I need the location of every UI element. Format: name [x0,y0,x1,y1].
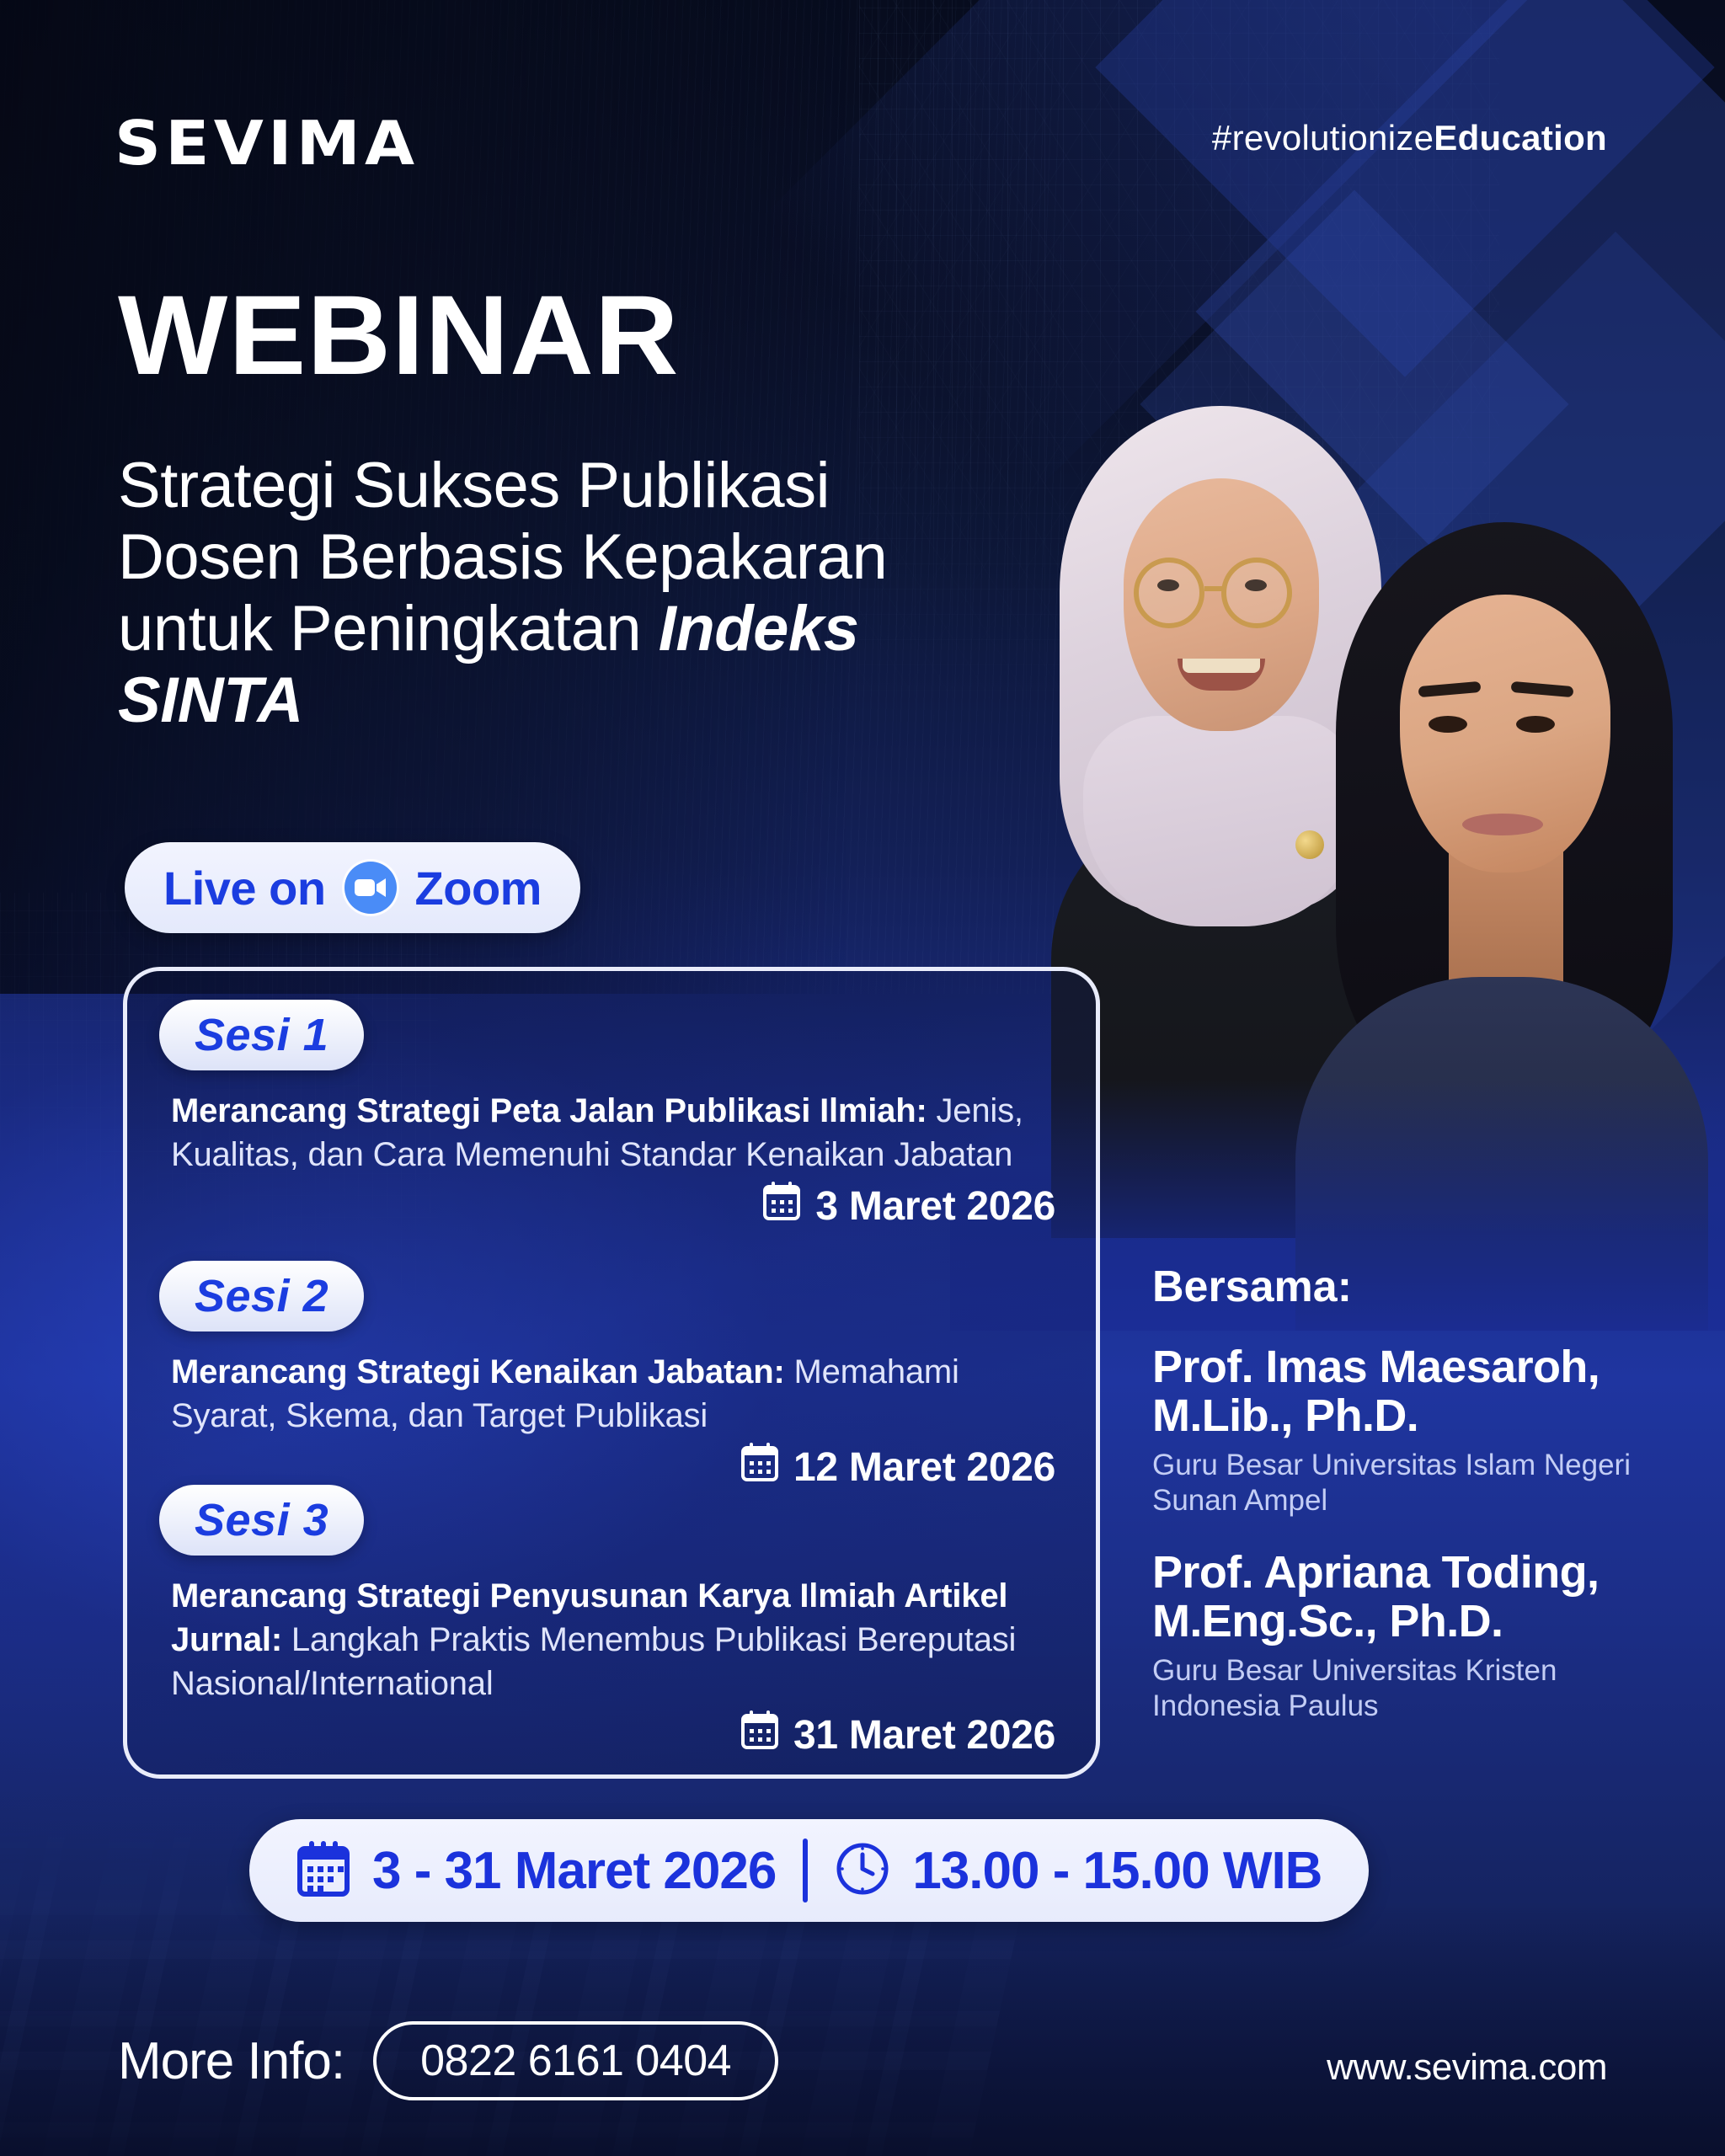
calendar-icon [763,1182,800,1230]
speaker-name-1: Prof. Imas Maesaroh, M.Lib., Ph.D. [1152,1342,1691,1441]
sessions-card: Sesi 1 Merancang Strategi Peta Jalan Pub… [123,967,1100,1779]
sevima-logo: SEVIMA [115,108,419,179]
campaign-hashtag: #revolutionizeEducation [1212,118,1607,158]
session-title-bold-1: Merancang Strategi Peta Jalan Publikasi … [171,1092,927,1129]
title-line-2: Dosen Berbasis Kepakaran [118,521,887,593]
session-item-2: Sesi 2 Merancang Strategi Kenaikan Jabat… [159,1261,1069,1492]
session-date-2: 12 Maret 2026 [793,1444,1055,1491]
session-date-row-3: 31 Maret 2026 [159,1710,1069,1759]
session-item-1: Sesi 1 Merancang Strategi Peta Jalan Pub… [159,1000,1069,1230]
schedule-date-range: 3 - 31 Maret 2026 [372,1841,776,1901]
hashtag-bold-part: Education [1434,118,1607,157]
session-description-2: Merancang Strategi Kenaikan Jabatan: Mem… [159,1350,1069,1438]
calendar-icon [296,1840,350,1902]
session-title-bold-2: Merancang Strategi Kenaikan Jabatan: [171,1353,785,1390]
hashtag-light-part: #revolutionize [1212,118,1434,157]
contact-phone-pill[interactable]: 0822 6161 0404 [373,2021,778,2100]
zoom-label: Zoom [415,861,542,915]
session-description-1: Merancang Strategi Peta Jalan Publikasi … [159,1089,1069,1177]
speaker-name-2: Prof. Apriana Toding, M.Eng.Sc., Ph.D. [1152,1548,1691,1646]
speaker-entry-2: Prof. Apriana Toding, M.Eng.Sc., Ph.D. G… [1152,1548,1691,1725]
title-line-1: Strategi Sukses Publikasi [118,450,830,521]
live-on-zoom-badge[interactable]: Live on Zoom [125,842,580,933]
speaker-entry-1: Prof. Imas Maesaroh, M.Lib., Ph.D. Guru … [1152,1342,1691,1519]
session-title-rest-3: Langkah Praktis Menembus Publikasi Berep… [171,1621,1016,1702]
title-line-4-italic: SINTA [118,664,303,736]
calendar-icon [741,1710,778,1759]
session-badge-1: Sesi 1 [159,1000,364,1070]
speaker-affiliation-1: Guru Besar Universitas Islam Negeri Suna… [1152,1448,1691,1519]
session-badge-2: Sesi 2 [159,1261,364,1331]
more-info-block: More Info: 0822 6161 0404 [118,2021,778,2100]
session-item-3: Sesi 3 Merancang Strategi Penyusunan Kar… [159,1485,1069,1759]
speakers-heading: Bersama: [1152,1262,1691,1312]
session-date-row-1: 3 Maret 2026 [159,1182,1069,1230]
session-badge-3: Sesi 3 [159,1485,364,1556]
schedule-bar: 3 - 31 Maret 2026 13.00 - 15.00 WIB [249,1819,1369,1922]
live-on-label: Live on [163,861,326,915]
session-description-3: Merancang Strategi Penyusunan Karya Ilmi… [159,1574,1069,1705]
webinar-poster: SEVIMA #revolutionizeEducation WEBINAR S… [0,0,1725,2156]
event-type-heading: WEBINAR [118,280,680,392]
page-title: Strategi Sukses Publikasi Dosen Berbasis… [118,450,1095,736]
title-line-3-italic: Indeks [659,593,859,664]
schedule-time-range: 13.00 - 15.00 WIB [912,1841,1322,1901]
website-url[interactable]: www.sevima.com [1327,2047,1607,2089]
zoom-video-camera-icon [344,862,397,914]
schedule-divider [803,1838,808,1903]
more-info-label: More Info: [118,2031,344,2091]
speaker-affiliation-2: Guru Besar Universitas Kristen Indonesia… [1152,1653,1691,1725]
clock-icon [835,1841,890,1901]
speakers-panel: Bersama: Prof. Imas Maesaroh, M.Lib., Ph… [1152,1262,1691,1753]
session-date-3: 31 Maret 2026 [793,1712,1055,1758]
title-line-3-plain: untuk Peningkatan [118,593,659,664]
session-date-1: 3 Maret 2026 [815,1183,1055,1230]
